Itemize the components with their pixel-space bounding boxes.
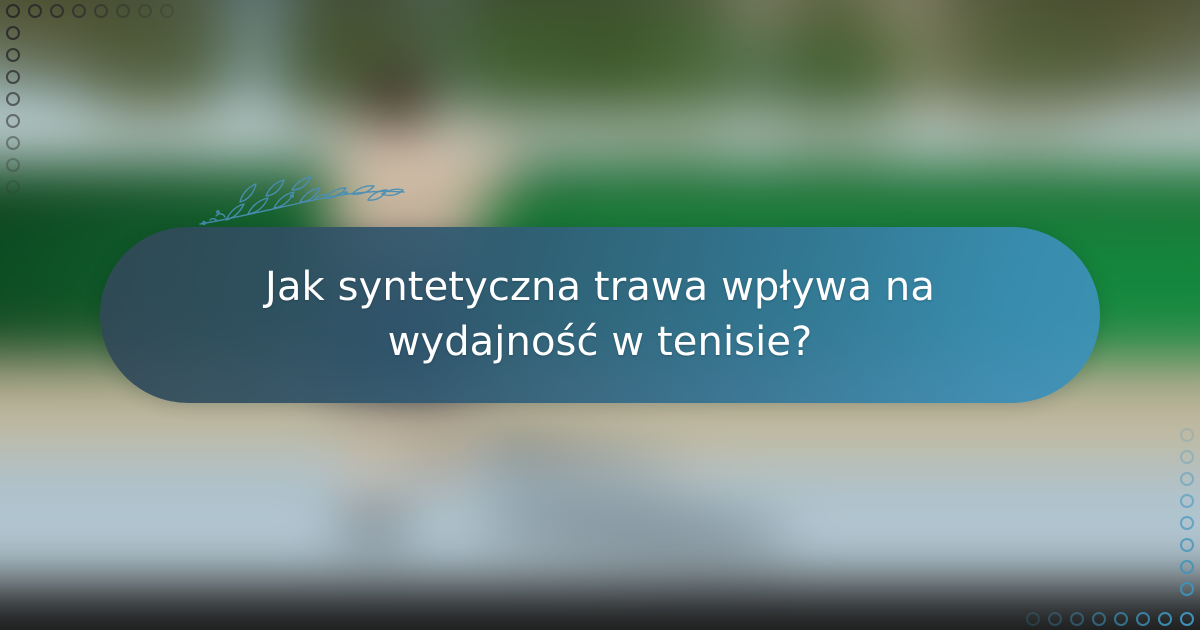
decor-dot-right-7 xyxy=(1180,560,1194,574)
page-title: Jak syntetyczna trawa wpływa na wydajnoś… xyxy=(200,260,1000,370)
player-shoe xyxy=(341,507,407,535)
decor-dot-top-1 xyxy=(6,4,20,18)
decor-dots-top-row xyxy=(6,4,182,18)
decor-dot-right-6 xyxy=(1180,538,1194,552)
decor-dot-bottom-4 xyxy=(1092,612,1106,626)
decor-dot-left-8 xyxy=(6,180,20,194)
decor-dot-left-4 xyxy=(6,92,20,106)
decor-dots-bottom-row xyxy=(1018,612,1194,626)
decor-dot-bottom-3 xyxy=(1070,612,1084,626)
decor-dot-left-3 xyxy=(6,70,20,84)
decor-dots-right-column xyxy=(1172,428,1194,604)
decor-dot-right-8 xyxy=(1180,582,1194,596)
hero-banner: Jak syntetyczna trawa wpływa na wydajnoś… xyxy=(0,0,1200,630)
decor-dot-top-4 xyxy=(72,4,86,18)
decor-dot-left-7 xyxy=(6,158,20,172)
decor-dot-right-5 xyxy=(1180,516,1194,530)
decor-dot-left-2 xyxy=(6,48,20,62)
decor-dot-top-7 xyxy=(138,4,152,18)
decor-dot-right-1 xyxy=(1180,428,1194,442)
decor-dot-right-2 xyxy=(1180,450,1194,464)
decor-dot-top-6 xyxy=(116,4,130,18)
decor-dot-left-6 xyxy=(6,136,20,150)
decor-dot-top-5 xyxy=(94,4,108,18)
decor-dot-bottom-5 xyxy=(1114,612,1128,626)
decor-dot-right-4 xyxy=(1180,494,1194,508)
decor-dots-left-column xyxy=(6,26,28,202)
decor-dot-right-3 xyxy=(1180,472,1194,486)
decor-dot-bottom-1 xyxy=(1026,612,1040,626)
decor-dot-top-8 xyxy=(160,4,174,18)
decor-dot-bottom-2 xyxy=(1048,612,1062,626)
decor-dot-left-1 xyxy=(6,26,20,40)
decor-dot-bottom-7 xyxy=(1158,612,1172,626)
decor-dot-top-3 xyxy=(50,4,64,18)
decor-dot-bottom-6 xyxy=(1136,612,1150,626)
title-pill: Jak syntetyczna trawa wpływa na wydajnoś… xyxy=(100,227,1100,403)
decor-dot-left-5 xyxy=(6,114,20,128)
decor-dot-top-2 xyxy=(28,4,42,18)
decor-dot-bottom-8 xyxy=(1180,612,1194,626)
